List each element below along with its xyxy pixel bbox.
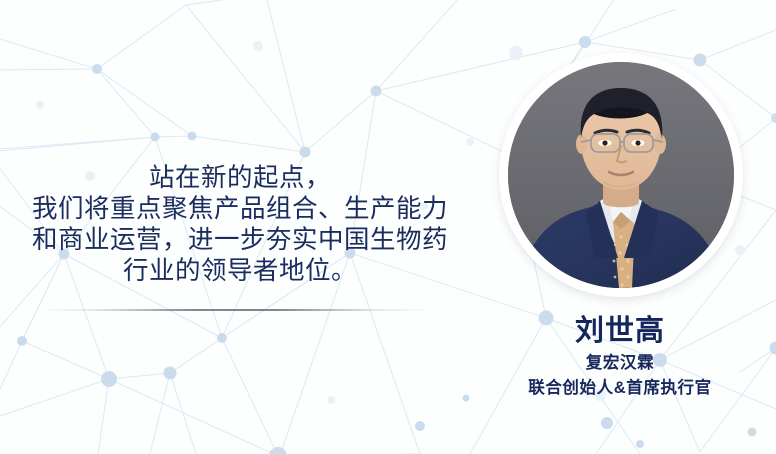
quote-line-2: 我们将重点聚焦产品组合、生产能力: [10, 194, 470, 225]
person-title: 联合创始人&首席执行官: [470, 376, 770, 400]
portrait-container: [499, 53, 743, 297]
slide-canvas: 站在新的起点， 我们将重点聚焦产品组合、生产能力 和商业运营，进一步夯实中国生物…: [0, 0, 776, 454]
quote-line-3: 和商业运营，进一步夯实中国生物药: [10, 225, 470, 256]
quote-line-1: 站在新的起点，: [10, 163, 470, 194]
quote-line-4: 行业的领导者地位。: [10, 256, 470, 287]
horizontal-divider: [40, 309, 430, 311]
portrait-photo: [508, 62, 734, 288]
person-company: 复宏汉霖: [470, 351, 770, 375]
quote-text-block: 站在新的起点， 我们将重点聚焦产品组合、生产能力 和商业运营，进一步夯实中国生物…: [10, 163, 470, 287]
person-info-block: 刘世高 复宏汉霖 联合创始人&首席执行官: [470, 314, 770, 400]
person-name: 刘世高: [470, 314, 770, 348]
